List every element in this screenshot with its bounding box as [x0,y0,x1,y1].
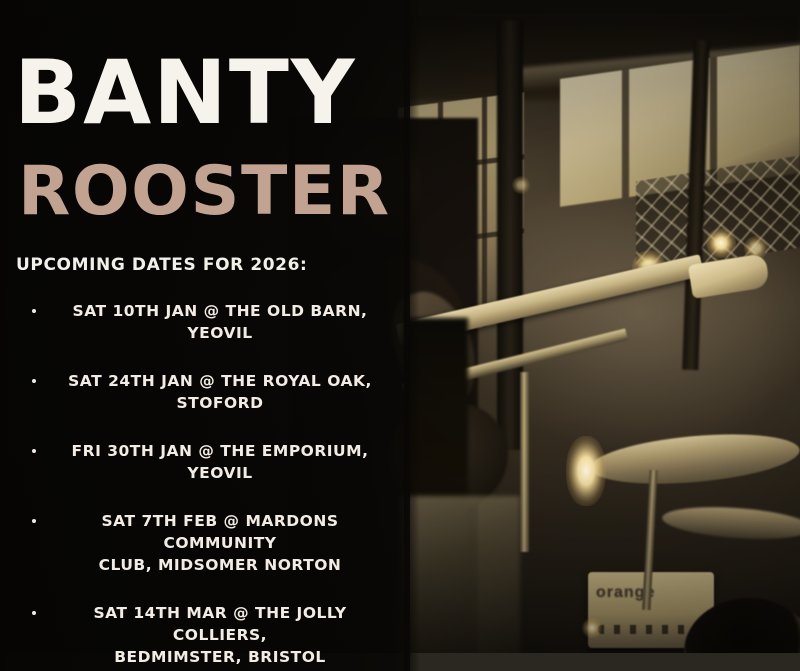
list-item: SAT 7TH FEB @ MARDONS COMMUNITY CLUB, MI… [0,510,410,576]
gig-date-line-1: SAT 14TH MAR @ THE JOLLY COLLIERS, [52,602,388,646]
bullet-icon [32,379,36,383]
gig-date-line-2: YEOVIL [52,322,388,344]
gig-date-line-2: BEDMIMSTER, BRISTOL [52,646,388,668]
gig-date-line-2: CLUB, MIDSOMER NORTON [52,554,388,576]
gig-date-line-2: YEOVIL [52,462,388,484]
band-name-primary: BANTY [14,50,357,136]
photo-stage-light-flare [566,436,606,506]
gig-date-line-1: FRI 30TH JAN @ THE EMPORIUM, [52,440,388,462]
photo-stage-lamp [512,176,530,194]
list-item: SAT 14TH MAR @ THE JOLLY COLLIERS, BEDMI… [0,602,410,668]
upcoming-dates-heading: UPCOMING DATES FOR 2026: [16,255,307,275]
gig-dates-list: SAT 10TH JAN @ THE OLD BARN, YEOVIL SAT … [0,300,410,671]
bullet-icon [32,611,36,615]
gig-poster: orange BANTY ROOSTER UPCOMING DATES FOR … [0,0,800,671]
bullet-icon [32,519,36,523]
list-item: FRI 30TH JAN @ THE EMPORIUM, YEOVIL [0,440,410,484]
photo-mic-stand [520,372,529,552]
gig-date-line-1: SAT 24TH JAN @ THE ROYAL OAK, [52,370,388,392]
bullet-icon [32,449,36,453]
amp-control-knobs [598,625,702,634]
gig-date-line-1: SAT 10TH JAN @ THE OLD BARN, [52,300,388,322]
photo-stage-lamp [706,228,736,258]
gig-date-line-2: STOFORD [52,392,388,414]
band-name-secondary: ROOSTER [18,158,391,226]
gig-date-line-1: SAT 7TH FEB @ MARDONS COMMUNITY [52,510,388,554]
list-item: SAT 10TH JAN @ THE OLD BARN, YEOVIL [0,300,410,344]
poster-text-content: BANTY ROOSTER UPCOMING DATES FOR 2026: S… [0,0,410,671]
amp-indicator-glow [582,618,602,638]
bullet-icon [32,309,36,313]
list-item: SAT 24TH JAN @ THE ROYAL OAK, STOFORD [0,370,410,414]
